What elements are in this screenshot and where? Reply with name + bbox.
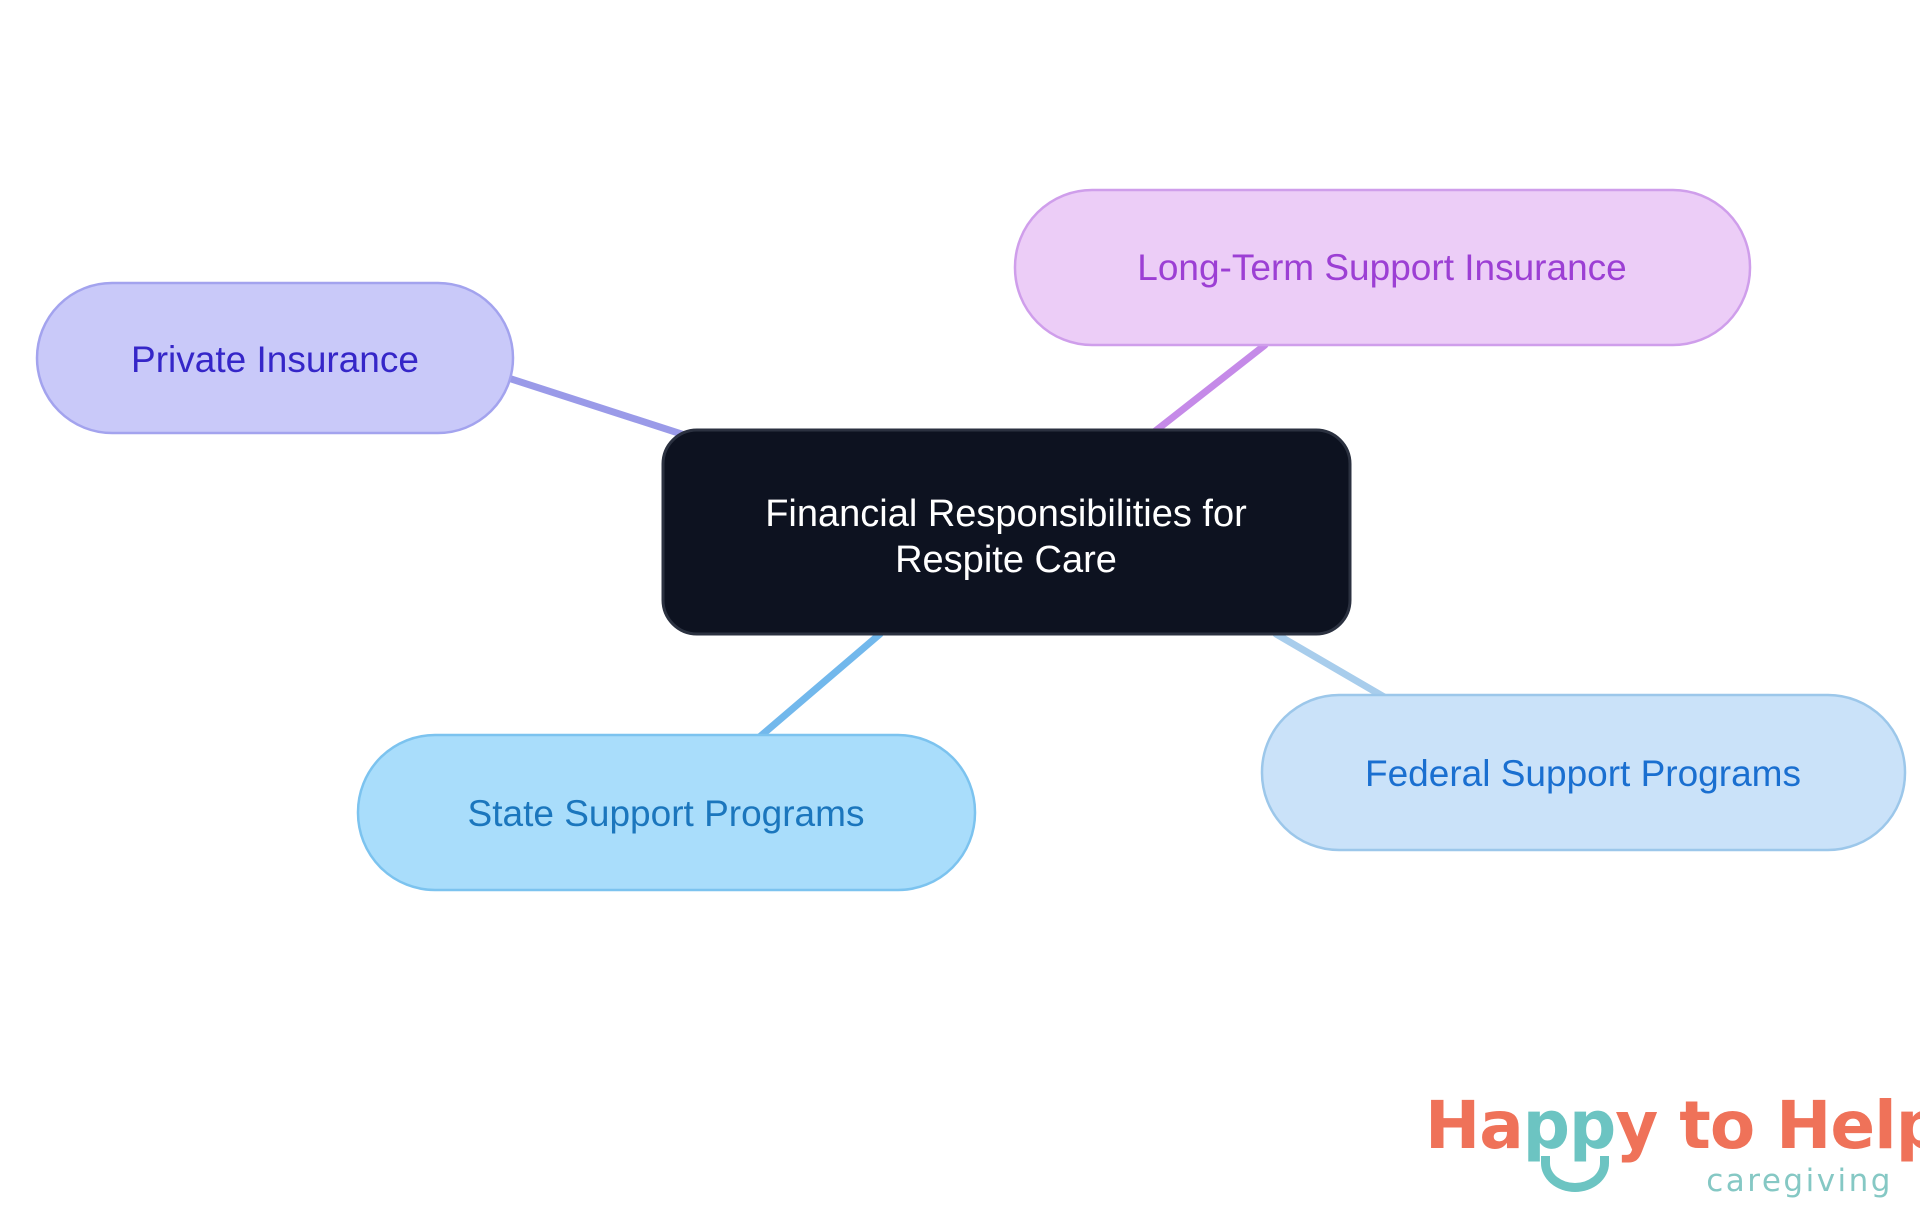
logo-word-pp: pp (1523, 1087, 1616, 1164)
node-private-insurance-label: Private Insurance (131, 339, 419, 380)
node-central-label-line2: Respite Care (895, 539, 1117, 581)
edge-long-term-support-insurance (1140, 345, 1265, 443)
happy-to-help-caregiving-logo: Happy to Help caregiving (1425, 1093, 1895, 1205)
node-private-insurance[interactable]: Private Insurance (37, 283, 513, 433)
logo-word-ha: Ha (1425, 1087, 1523, 1164)
edge-state-support-programs (756, 634, 880, 740)
node-state-support-programs[interactable]: State Support Programs (358, 735, 975, 890)
mindmap-canvas: Private Insurance Long-Term Support Insu… (0, 0, 1920, 1215)
node-central-label-line1: Financial Responsibilities for (765, 493, 1247, 535)
node-state-support-programs-label: State Support Programs (468, 793, 865, 834)
node-long-term-support-insurance-label: Long-Term Support Insurance (1137, 247, 1627, 288)
node-federal-support-programs[interactable]: Federal Support Programs (1262, 695, 1905, 850)
logo-tagline: caregiving (1706, 1163, 1893, 1199)
smile-arc-icon (1541, 1156, 1609, 1192)
logo-word-y-to-help: y to Help (1615, 1087, 1920, 1164)
node-federal-support-programs-label: Federal Support Programs (1365, 753, 1801, 794)
node-central[interactable]: Financial Responsibilities for Respite C… (663, 430, 1350, 634)
node-long-term-support-insurance[interactable]: Long-Term Support Insurance (1015, 190, 1750, 345)
logo-wordmark: Happy to Help (1425, 1093, 1920, 1159)
